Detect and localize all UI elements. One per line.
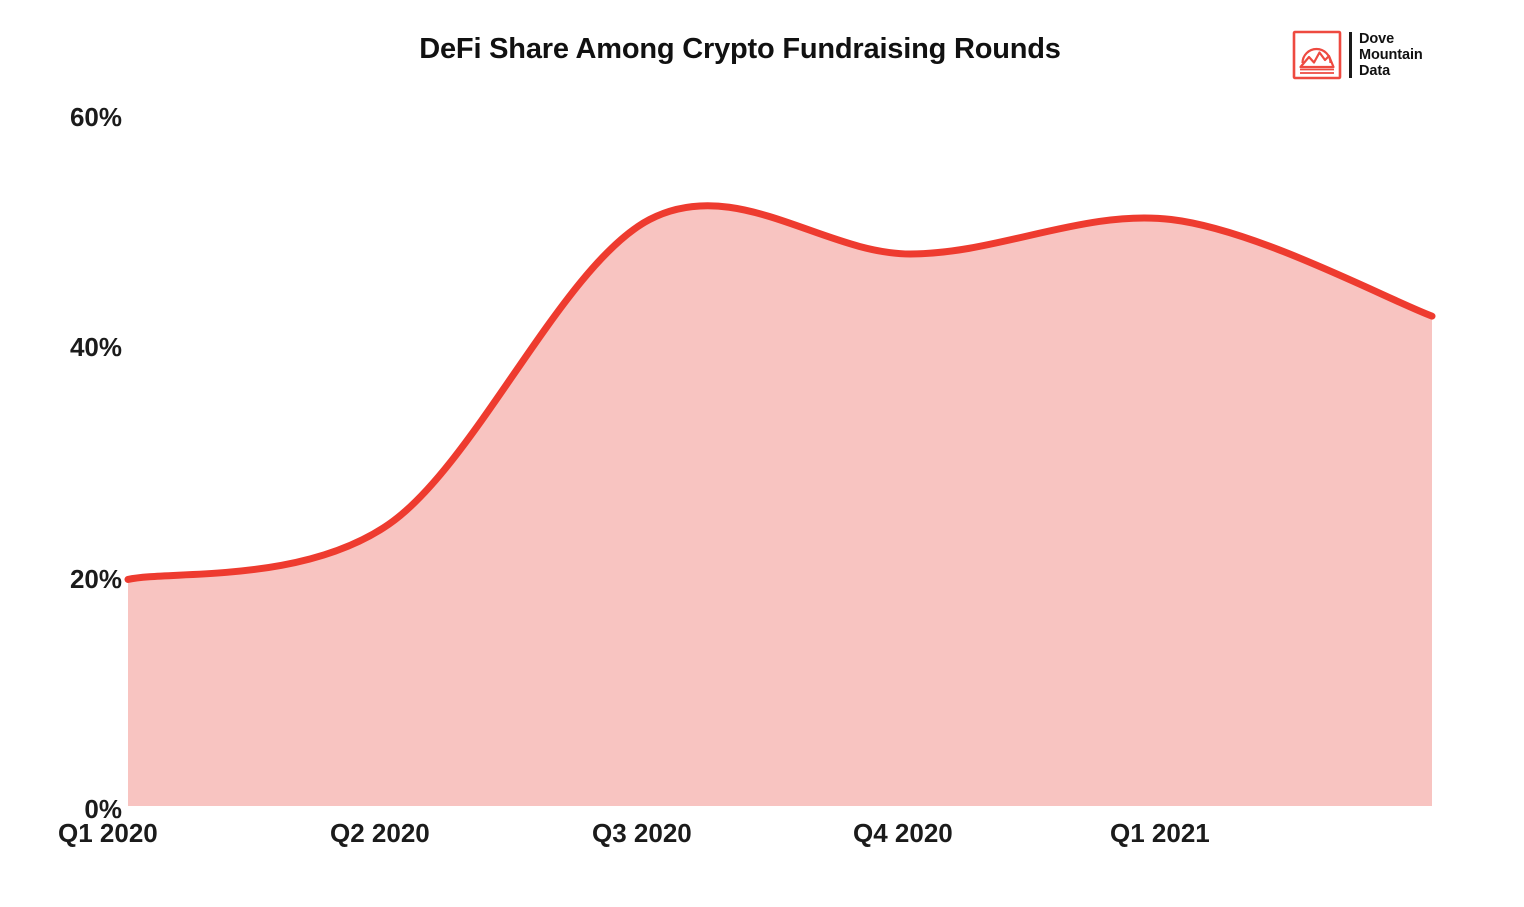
plot-area: [0, 0, 1524, 902]
y-axis-tick-label: 40%: [2, 332, 122, 363]
dove-mountain-data-logo-icon: [1292, 30, 1342, 80]
x-axis-tick-label: Q4 2020: [853, 818, 953, 849]
y-axis-tick-label: 60%: [2, 102, 122, 133]
brand-logo: Dove Mountain Data: [1292, 30, 1423, 80]
chart-page: DeFi Share Among Crypto Fundraising Roun…: [0, 0, 1524, 902]
brand-divider: [1349, 32, 1352, 78]
x-axis-tick-label: Q1 2020: [58, 818, 158, 849]
x-axis-tick-label: Q1 2021: [1110, 818, 1210, 849]
y-axis-tick-label: 20%: [2, 564, 122, 595]
x-axis-tick-label: Q3 2020: [592, 818, 692, 849]
brand-line-2: Mountain: [1359, 47, 1423, 63]
area-fill-defi-share: [128, 206, 1432, 806]
brand-line-3: Data: [1359, 63, 1423, 79]
page-title: DeFi Share Among Crypto Fundraising Roun…: [0, 33, 1480, 66]
area-chart-canvas: [0, 0, 1524, 902]
area-line-defi-share: [128, 206, 1432, 580]
x-axis-tick-label: Q2 2020: [330, 818, 430, 849]
brand-wordmark: Dove Mountain Data: [1359, 31, 1423, 80]
brand-line-1: Dove: [1359, 31, 1423, 47]
